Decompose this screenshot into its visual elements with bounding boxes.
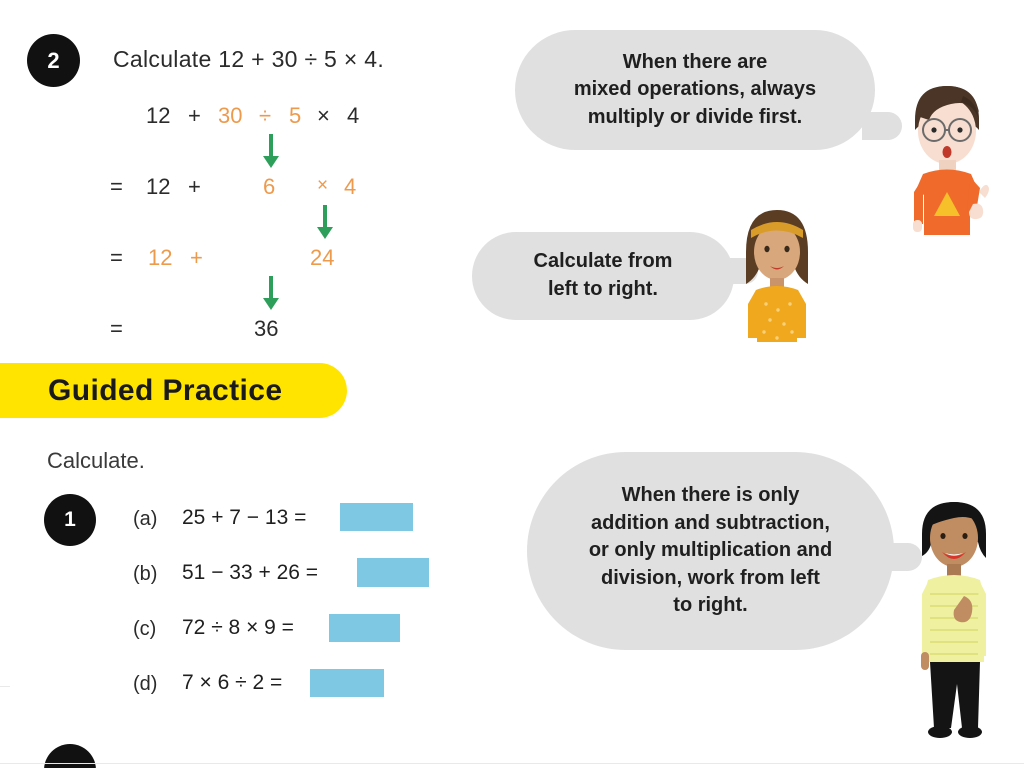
eq1-tok-plus: + (188, 103, 201, 129)
green-arrow-3 (261, 276, 281, 310)
bubble-line: division, work from left (589, 565, 832, 593)
boy-with-glasses-illustration (893, 74, 1003, 236)
eq3-tok-24: 24 (310, 245, 334, 271)
eq3-tok-plus: + (190, 245, 203, 271)
worksheet-page: 2 Calculate 12 + 30 ÷ 5 × 4. 12 + 30 ÷ 5… (0, 0, 1024, 768)
green-arrow-1 (261, 134, 281, 168)
practice-item-letter-c: (c) (133, 618, 156, 641)
bubble-line: Calculate from (534, 248, 673, 276)
eq1-tok-times: × (317, 103, 330, 129)
answer-box-c[interactable] (329, 614, 400, 642)
question-number-badge-2: 2 (27, 34, 80, 87)
eq3-tok-12: 12 (148, 245, 172, 271)
bubble-addition-subtraction-text: When there is only addition and subtract… (589, 482, 832, 620)
bubble-line: When there are (574, 49, 816, 77)
bubble-line: to right. (589, 592, 832, 620)
bubble-line: mixed operations, always (574, 76, 816, 104)
bubble-line: addition and subtraction, (589, 510, 832, 538)
bubble-left-to-right: Calculate from left to right. (472, 232, 734, 320)
practice-instruction: Calculate. (47, 448, 145, 474)
bubble-line: When there is only (589, 482, 832, 510)
bubble-addition-subtraction: When there is only addition and subtract… (527, 452, 894, 650)
girl-with-headband-illustration (736, 200, 818, 345)
practice-item-letter-d: (d) (133, 673, 157, 696)
eq2-tok-12: 12 (146, 174, 170, 200)
bubble-mixed-operations: When there are mixed operations, always … (515, 30, 875, 150)
character-woman-teacher (908, 492, 1000, 750)
bubble-left-to-right-text: Calculate from left to right. (534, 248, 673, 303)
eq1-tok-divide: ÷ (259, 103, 271, 129)
eq1-tok-30: 30 (218, 103, 242, 129)
question-number-badge-next (44, 744, 96, 768)
eq2-tok-plus: + (188, 174, 201, 200)
eq2-tok-4: 4 (344, 174, 356, 200)
eq1-tok-4: 4 (347, 103, 359, 129)
page-rule-line (0, 686, 10, 687)
practice-item-expression-c: 72 ÷ 8 × 9 = (182, 616, 294, 640)
bubble-line: multiply or divide first. (574, 104, 816, 132)
eq2-tok-6: 6 (263, 174, 275, 200)
character-girl-with-headband (736, 200, 818, 345)
worked-example-prompt: Calculate 12 + 30 ÷ 5 × 4. (113, 46, 384, 73)
guided-practice-label: Guided Practice (48, 374, 282, 408)
eq2-tok-times: × (317, 175, 328, 197)
practice-item-letter-a: (a) (133, 508, 157, 531)
question-number-badge-1: 1 (44, 494, 96, 546)
practice-item-letter-b: (b) (133, 563, 157, 586)
practice-item-expression-d: 7 × 6 ÷ 2 = (182, 671, 282, 695)
eq2-equals: = (110, 174, 123, 200)
eq3-equals: = (110, 245, 123, 271)
bubble-mixed-operations-text: When there are mixed operations, always … (574, 49, 816, 132)
woman-teacher-illustration (908, 492, 1000, 750)
green-arrow-2 (315, 205, 335, 239)
eq1-tok-12: 12 (146, 103, 170, 129)
eq1-tok-5: 5 (289, 103, 301, 129)
eq4-tok-36: 36 (254, 316, 278, 342)
practice-item-expression-a: 25 + 7 − 13 = (182, 506, 306, 530)
page-bottom-rule (0, 763, 1024, 764)
answer-box-b[interactable] (357, 558, 429, 587)
practice-item-expression-b: 51 − 33 + 26 = (182, 561, 318, 585)
guided-practice-banner: Guided Practice (0, 363, 347, 418)
answer-box-d[interactable] (310, 669, 384, 697)
answer-box-a[interactable] (340, 503, 413, 531)
character-boy-with-glasses (893, 74, 1003, 236)
bubble-line: or only multiplication and (589, 537, 832, 565)
eq4-equals: = (110, 316, 123, 342)
bubble-line: left to right. (534, 276, 673, 304)
